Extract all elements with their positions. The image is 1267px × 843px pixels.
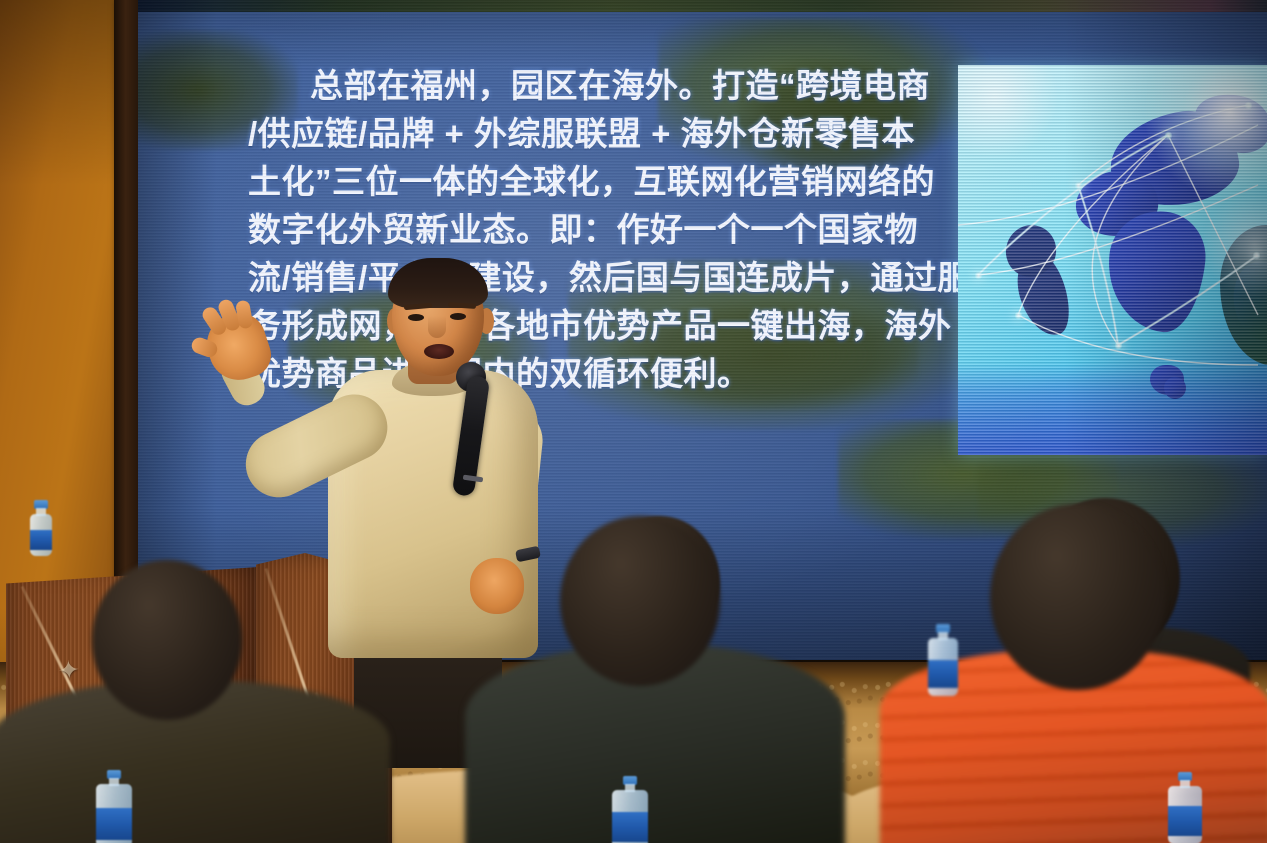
water-bottle-podium bbox=[30, 500, 52, 556]
audience-left-person bbox=[0, 560, 400, 843]
slide-line-1: 总部在福州，园区在海外。打造“跨境电商 bbox=[248, 62, 1048, 110]
bottle-label bbox=[1168, 806, 1202, 836]
slide-line-2: /供应链/品牌 + 外综服联盟 + 海外仓新零售本 bbox=[248, 110, 1048, 158]
water-bottle-front-right bbox=[1168, 772, 1202, 843]
conference-photo: 总部在福州，园区在海外。打造“跨境电商 /供应链/品牌 + 外综服联盟 + 海外… bbox=[0, 0, 1267, 843]
bottle-label bbox=[928, 660, 958, 688]
water-bottle-front-center bbox=[612, 776, 648, 843]
bottle-body bbox=[928, 638, 958, 696]
speaker-eye-left bbox=[408, 314, 424, 321]
bottle-body bbox=[1168, 786, 1202, 843]
audience-center-person bbox=[465, 516, 845, 843]
bottle-label bbox=[612, 812, 648, 842]
speaker-mouth bbox=[424, 344, 454, 359]
slide-line-4: 数字化外贸新业态。即：作好一个一个国家物 bbox=[248, 206, 1048, 254]
water-bottle-front-left bbox=[96, 770, 132, 843]
water-bottle-table-right bbox=[928, 624, 958, 696]
audience-left-head bbox=[92, 560, 242, 720]
bottle-body bbox=[612, 790, 648, 843]
inset-scanlines bbox=[958, 65, 1267, 455]
bottle-label bbox=[96, 808, 132, 840]
audience-right-head bbox=[990, 504, 1165, 690]
slide-line-3: 土化”三位一体的全球化，互联网化营销网络的 bbox=[248, 158, 1048, 206]
world-map-network-image bbox=[958, 65, 1267, 455]
speaker-hair bbox=[388, 258, 488, 308]
speaker-eye-right bbox=[450, 313, 466, 320]
speaker-nose bbox=[428, 316, 446, 338]
bottle-body bbox=[30, 514, 52, 556]
bottle-label bbox=[30, 530, 52, 550]
audience-center-head bbox=[560, 516, 720, 686]
bottle-body bbox=[96, 784, 132, 843]
slide-top-strip bbox=[138, 0, 1267, 12]
